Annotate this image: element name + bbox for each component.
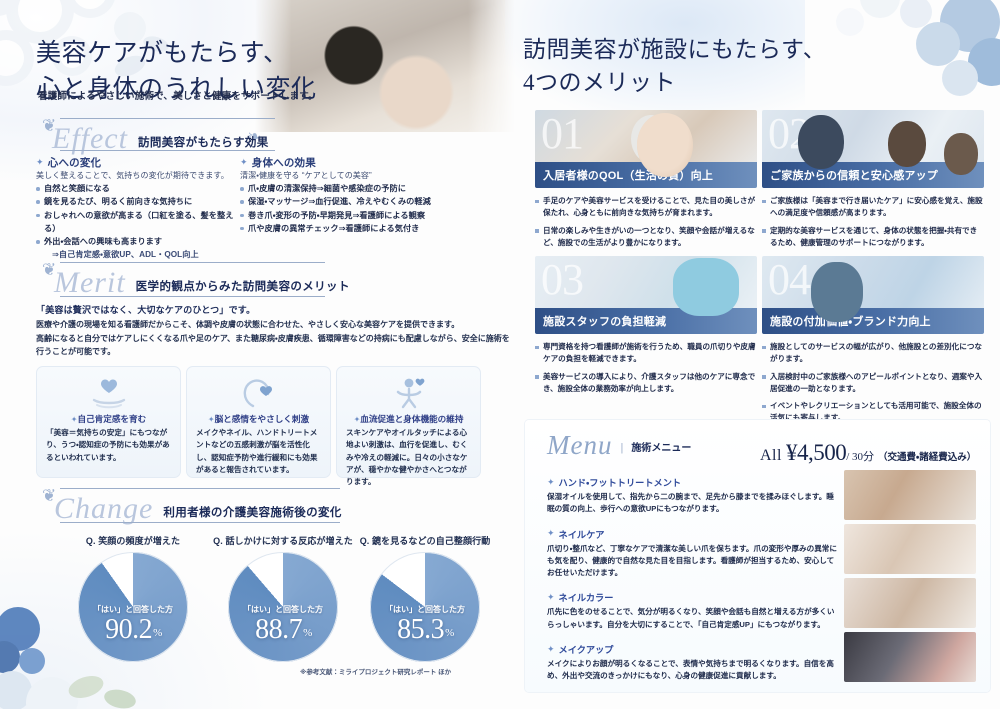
nail-color-photo <box>844 578 976 628</box>
card-number-01: 01 <box>541 112 583 156</box>
hands-care-photo: 03 施設スタッフの負担軽減 <box>535 256 757 334</box>
effect-col2-note: 清潔・健康を守る “ケアとしての美容” <box>240 170 372 181</box>
card-title-03: 施設スタッフの負担軽減 <box>535 308 757 334</box>
pie-chart-3-graphic: 「はい」と回答した方 85.3% <box>370 552 480 662</box>
left-page-subtitle: 看護師によるやさしい施術で、美しさと健康をサポートします。 <box>38 88 318 102</box>
nail-care-photo <box>844 524 976 574</box>
menu-item-2: ✦ネイルケア 爪切り・整爪など、丁寧なケアで清潔な美しい爪を保ちます。爪の変形や… <box>547 527 837 580</box>
list-item: 保湿・マッサージ⇒血行促進、冷えやむくみの軽減 <box>240 195 495 208</box>
menu-item-4-title: ✦メイクアップ <box>547 642 837 656</box>
hand-heart-icon <box>37 376 180 415</box>
merit-rule-top <box>60 262 325 263</box>
merit-card-1-title: ✦自己肯定感を育む <box>37 413 180 425</box>
menu-heading: Menu | 施術メニュー <box>547 432 691 459</box>
caregiver-window-photo: 04 施設の付加価値・ブランド力向上 <box>762 256 984 334</box>
menu-item-list: ✦ハンド・フットトリートメント 保湿オイルを使用して、指先から二の腕まで、足先か… <box>547 475 837 694</box>
body-heart-icon <box>337 376 480 415</box>
merit-rule-bottom <box>60 296 325 297</box>
pie-chart-1: Q. 笑顔の頻度が増えた 「はい」と回答した方 90.2% <box>58 534 208 662</box>
card-title-04: 施設の付加価値・ブランド力向上 <box>762 308 984 334</box>
card-number-02: 02 <box>768 112 810 156</box>
effect-col2-head-label: 身体への効果 <box>252 155 316 170</box>
merit-card-2: ✦脳と感情をやさしく刺激 メイクやネイル、ハンドトリートメントなどの五感刺激が脳… <box>186 366 331 478</box>
effect-col1-head-label: 心への変化 <box>48 155 102 170</box>
pie-chart-3-question: Q. 鏡を見るなどの自己整顔行動 <box>350 534 500 547</box>
menu-item-2-title: ✦ネイルケア <box>547 527 837 541</box>
pie-chart-1-question: Q. 笑顔の頻度が増えた <box>58 534 208 547</box>
right-page-title: 訪問美容が施設にもたらす、 4つのメリット <box>523 34 826 99</box>
pie-chart-2-value: 88.7% <box>228 614 338 646</box>
diamond-icon: ✦ <box>547 644 555 655</box>
senior-woman-touching-face-photo: 01 入居者様のQOL（生活の質）向上 <box>535 110 757 188</box>
facility-merit-card-01: 01 入居者様のQOL（生活の質）向上 手足のケアや美容サービスを受けることで、… <box>535 110 757 254</box>
list-item: ご家族様は「美容まで行き届いたケア」に安心感を覚え、施設への満足度や信頼感が高ま… <box>762 195 984 220</box>
menu-item-2-text: 爪切り・整爪など、丁寧なケアで清潔な美しい爪を保ちます。爪の変形や厚みの異常にも… <box>547 543 837 580</box>
card-number-03: 03 <box>541 258 583 302</box>
merit-card-2-text: メイクやネイル、ハンドトリートメントなどの五感刺激が脳を活性化し、認知症予防や進… <box>196 427 321 476</box>
menu-item-4-text: メイクによりお顔が明るくなることで、表情や気持ちまで明るくなります。自信を高め、… <box>547 658 837 683</box>
pie-chart-2: Q. 話しかけに対する反応が増えた 「はい」と回答した方 88.7% <box>208 534 358 662</box>
merit-lead-text: 「美容は贅沢ではなく、大切なケアのひとつ」です。 <box>36 303 255 316</box>
card-points-04: 施設としてのサービスの幅が広がり、他施設との差別化につながります。 入居検討中の… <box>762 341 984 425</box>
merit-card-3: ✦血流促進と身体機能の維持 スキンケアやオイルタッチによる心地よい刺激は、血行を… <box>336 366 481 478</box>
card-number-04: 04 <box>768 258 810 302</box>
menu-photo-strip <box>844 470 976 686</box>
change-heading: Change 利用者様の介護美容施術後の変化 <box>54 494 342 524</box>
list-item: 爪や皮膚の異常チェック⇒看護師による気付き <box>240 222 495 235</box>
effect-rule-bottom <box>60 150 275 151</box>
list-item: 定期的な美容サービスを通じて、身体の状態を把握・共有できるため、健康管理のサポー… <box>762 225 984 250</box>
price-per: / 30分 <box>846 451 874 463</box>
menu-script-word: Menu <box>547 432 612 459</box>
list-item: 施設としてのサービスの幅が広がり、他施設との差別化につながります。 <box>762 341 984 366</box>
head-heart-icon <box>187 376 330 415</box>
change-script-word: Change <box>54 494 153 524</box>
menu-item-3-title: ✦ネイルカラー <box>547 590 837 604</box>
list-item: 外出・会話への興味も高まります <box>36 235 236 248</box>
list-item: 自然と笑顔になる <box>36 182 236 195</box>
diamond-icon: ✦ <box>547 592 555 603</box>
effect-rule-top <box>60 118 275 119</box>
effect-col1-list: 自然と笑顔になる 鏡を見るたび、明るく前向きな気持ちに おしゃれへの意欲が高まる… <box>36 182 236 262</box>
list-item: 専門資格を持つ看護師が施術を行うため、職員の爪切りや皮膚ケアの負担を軽減できます… <box>535 341 757 366</box>
facility-merit-card-04: 04 施設の付加価値・ブランド力向上 施設としてのサービスの幅が広がり、他施設と… <box>762 256 984 430</box>
menu-item-1: ✦ハンド・フットトリートメント 保湿オイルを使用して、指先から二の腕まで、足先か… <box>547 475 837 516</box>
foot-treatment-photo <box>844 470 976 520</box>
effect-col1-note: 美しく整えることで、気持ちの変化が期待できます。 <box>36 170 229 181</box>
price-amount: ¥4,500 <box>786 440 846 465</box>
list-item: おしゃれへの意欲が高まる（口紅を塗る、髪を整える） <box>36 209 236 236</box>
change-rule-top <box>60 488 340 489</box>
card-title-02: ご家族からの信頼と安心感アップ <box>762 162 984 188</box>
diamond-icon: ✦ <box>208 415 215 424</box>
price-included-note: （交通費・諸経費込み） <box>878 452 976 463</box>
price-all-label: All <box>760 447 782 464</box>
diamond-icon: ✦ <box>240 157 248 168</box>
family-meeting-staff-photo: 02 ご家族からの信頼と安心感アップ <box>762 110 984 188</box>
card-points-03: 専門資格を持つ看護師が施術を行うため、職員の爪切りや皮膚ケアの負担を軽減できます… <box>535 341 757 395</box>
pie-chart-3: Q. 鏡を見るなどの自己整顔行動 「はい」と回答した方 85.3% <box>350 534 500 662</box>
change-heading-jp: 利用者様の介護美容施術後の変化 <box>163 504 342 524</box>
pie-chart-2-question: Q. 話しかけに対する反応が増えた <box>208 534 358 547</box>
diamond-icon: ✦ <box>547 477 555 488</box>
effect-col2-list: 爪・皮膚の清潔保持⇒細菌や感染症の予防に 保湿・マッサージ⇒血行促進、冷えやむく… <box>240 182 495 235</box>
source-note: ※参考文献：ミライプロジェクト研究レポート ほか <box>300 666 451 676</box>
menu-item-3: ✦ネイルカラー 爪先に色をのせることで、気分が明るくなり、笑顔や会話も自然と増え… <box>547 590 837 631</box>
list-item: 手足のケアや美容サービスを受けることで、見た目の美しさが保たれ、心身ともに前向き… <box>535 195 757 220</box>
menu-price: All ¥4,500/ 30分 （交通費・諸経費込み） <box>760 440 976 466</box>
diamond-icon: ✦ <box>547 528 555 539</box>
menu-item-1-title: ✦ハンド・フットトリートメント <box>547 475 837 489</box>
card-points-02: ご家族様は「美容まで行き届いたケア」に安心感を覚え、施設への満足度や信頼感が高ま… <box>762 195 984 249</box>
brochure-page: 美容ケアがもたらす、 心と身体のうれしい変化 看護師によるやさしい施術で、美しさ… <box>0 0 1000 709</box>
pie-chart-1-graphic: 「はい」と回答した方 90.2% <box>78 552 188 662</box>
merit-body-text: 医療や介護の現場を知る看護師だからこそ、体調や皮膚の状態に合わせた、やさしく安心… <box>36 318 516 359</box>
merit-card-1: ✦自己肯定感を育む 「美容＝気持ちの安定」にもつながり、うつ・認知症の予防にも効… <box>36 366 181 478</box>
card-title-01: 入居者様のQOL（生活の質）向上 <box>535 162 757 188</box>
menu-item-3-text: 爪先に色をのせることで、気分が明るくなり、笑顔や会話も自然と増える方が多くいらっ… <box>547 606 837 631</box>
merit-card-2-title: ✦脳と感情をやさしく刺激 <box>187 413 330 425</box>
merit-card-3-text: スキンケアやオイルタッチによる心地よい刺激は、血行を促進し、むくみや冷えの軽減に… <box>346 427 471 488</box>
menu-heading-jp: 施術メニュー <box>631 439 691 459</box>
list-item: 鏡を見るたび、明るく前向きな気持ちに <box>36 195 236 208</box>
menu-panel: Menu | 施術メニュー All ¥4,500/ 30分 （交通費・諸経費込み… <box>525 420 990 692</box>
merit-card-1-text: 「美容＝気持ちの安定」にもつながり、うつ・認知症の予防にも効果があるといわれてい… <box>46 427 171 464</box>
list-item-sub: ⇒自己肯定感・意欲UP、ADL・QOL向上 <box>36 248 236 261</box>
menu-item-4: ✦メイクアップ メイクによりお顔が明るくなることで、表情や気持ちまで明るくなりま… <box>547 642 837 683</box>
merit-heading: Merit 医学的観点からみた訪問美容のメリット <box>54 268 350 298</box>
card-points-01: 手足のケアや美容サービスを受けることで、見た目の美しさが保たれ、心身ともに前向き… <box>535 195 757 249</box>
effect-col1-head: ✦ 心への変化 <box>36 155 101 170</box>
pie-chart-2-graphic: 「はい」と回答した方 88.7% <box>228 552 338 662</box>
merit-card-3-title: ✦血流促進と身体機能の維持 <box>337 413 480 425</box>
merit-script-word: Merit <box>54 268 126 298</box>
facility-merit-card-02: 02 ご家族からの信頼と安心感アップ ご家族様は「美容まで行き届いたケア」に安心… <box>762 110 984 254</box>
list-item: 爪・皮膚の清潔保持⇒細菌や感染症の予防に <box>240 182 495 195</box>
makeup-palette-photo <box>844 632 976 682</box>
list-item: 日常の楽しみや生きがいの一つとなり、笑顔や会話が増えるなど、施設での生活がより豊… <box>535 225 757 250</box>
merit-heading-jp: 医学的観点からみた訪問美容のメリット <box>136 278 350 298</box>
list-item: 巻き爪・変形の予防・早期発見⇒看護師による観察 <box>240 209 495 222</box>
effect-col2-head: ✦ 身体への効果 <box>240 155 316 170</box>
facility-merit-card-03: 03 施設スタッフの負担軽減 専門資格を持つ看護師が施術を行うため、職員の爪切り… <box>535 256 757 400</box>
menu-item-1-text: 保湿オイルを使用して、指先から二の腕まで、足先から膝までを揉みほぐします。睡眠の… <box>547 491 837 516</box>
diamond-icon: ✦ <box>36 157 44 168</box>
pie-chart-1-value: 90.2% <box>78 614 188 646</box>
change-rule-bottom <box>60 522 340 523</box>
list-item: 美容サービスの導入により、介護スタッフは他のケアに専念でき、施設全体の業務効率が… <box>535 371 757 396</box>
menu-divider: | <box>620 442 623 459</box>
effect-heading-jp: 訪問美容がもたらす効果 <box>138 134 269 154</box>
list-item: 入居検討中のご家族様へのアピールポイントとなり、週案や入居促進の一助となります。 <box>762 371 984 396</box>
pie-chart-3-value: 85.3% <box>370 614 480 646</box>
